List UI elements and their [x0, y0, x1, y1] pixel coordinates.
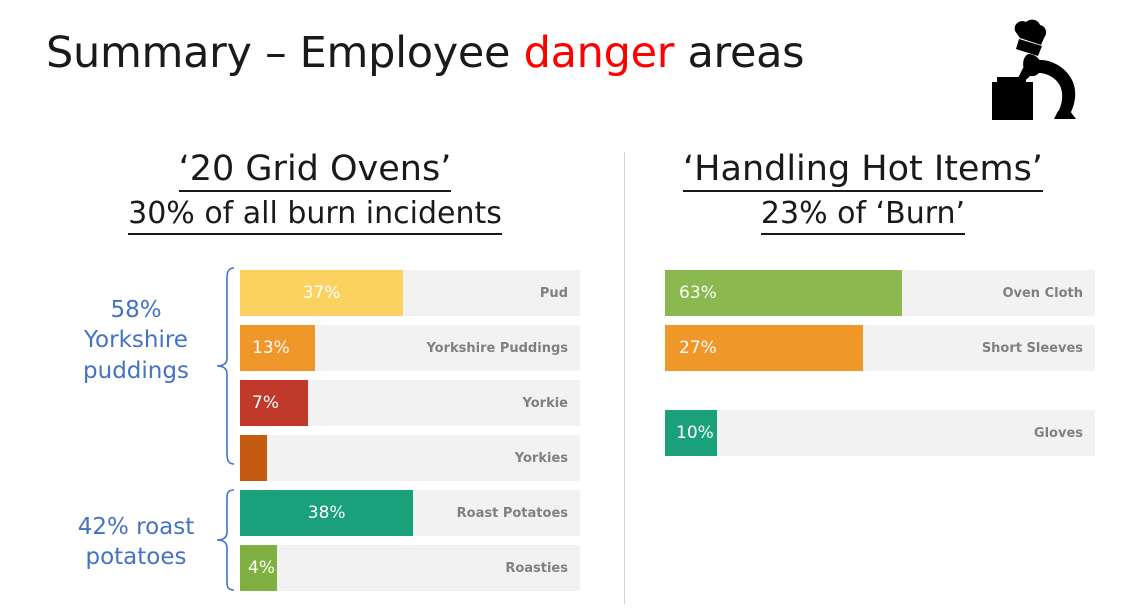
table-row: 63% Oven Cloth	[665, 270, 1095, 316]
bar-category-label: Pud	[540, 270, 568, 316]
bracket-roast-potatoes-group	[214, 488, 236, 592]
bar-fill	[240, 435, 267, 481]
table-row: 27% Short Sleeves	[665, 325, 1095, 371]
title-part-before: Summary – Employee	[46, 28, 524, 78]
bar-category-label: Roast Potatoes	[457, 490, 568, 536]
bar-value-label: 38%	[240, 490, 413, 536]
left-chart-heading: ‘20 Grid Ovens’ 30% of all burn incident…	[40, 150, 590, 235]
annotation-line-2: Yorkshire	[62, 325, 210, 355]
page-title: Summary – Employee danger areas	[46, 28, 804, 78]
bar-value-label: 27%	[679, 325, 717, 371]
right-chart-heading: ‘Handling Hot Items’ 23% of ‘Burn’	[628, 150, 1098, 235]
bar-category-label: Gloves	[1034, 410, 1083, 456]
table-row: 38% Roast Potatoes	[240, 490, 580, 536]
bar-track	[665, 410, 1095, 456]
bar-value-label: 63%	[679, 270, 717, 316]
table-row: 4% Roasties	[240, 545, 580, 591]
bar-category-label: Yorkie	[523, 380, 568, 426]
right-chart-subtitle: 23% of ‘Burn’	[761, 196, 965, 234]
table-row: 7% Yorkie	[240, 380, 580, 426]
table-row: 37% Pud	[240, 270, 580, 316]
left-chart-subtitle: 30% of all burn incidents	[128, 196, 502, 234]
table-row: 10% Gloves	[665, 410, 1095, 456]
annotation-roast-potatoes: 42% roast potatoes	[56, 512, 216, 573]
annotation-yorkshire-puddings: 58% Yorkshire puddings	[62, 295, 210, 386]
bar-category-label: Yorkies	[515, 435, 568, 481]
table-row: 13% Yorkshire Puddings	[240, 325, 580, 371]
chef-bending-over-oven-icon	[984, 18, 1094, 123]
title-highlight-danger: danger	[524, 28, 675, 78]
panel-divider	[624, 152, 625, 604]
annotation-line-1: 58%	[62, 295, 210, 325]
bar-value-label: 10%	[676, 410, 714, 456]
bracket-yorkshire-group	[214, 266, 236, 466]
bar-value-label: 13%	[252, 325, 290, 371]
right-chart-title: ‘Handling Hot Items’	[683, 150, 1043, 192]
bar-value-label: 4%	[248, 545, 275, 591]
bar-category-label: Roasties	[505, 545, 568, 591]
left-chart-title: ‘20 Grid Ovens’	[179, 150, 452, 192]
bar-category-label: Yorkshire Puddings	[426, 325, 568, 371]
bar-category-label: Oven Cloth	[1002, 270, 1083, 316]
table-row: Yorkies	[240, 435, 580, 481]
annotation-line-2: potatoes	[56, 542, 216, 572]
annotation-line-1: 42% roast	[56, 512, 216, 542]
bar-value-label: 37%	[240, 270, 403, 316]
title-part-after: areas	[674, 28, 804, 78]
annotation-line-3: puddings	[62, 356, 210, 386]
bar-value-label: 7%	[252, 380, 279, 426]
bar-category-label: Short Sleeves	[982, 325, 1083, 371]
